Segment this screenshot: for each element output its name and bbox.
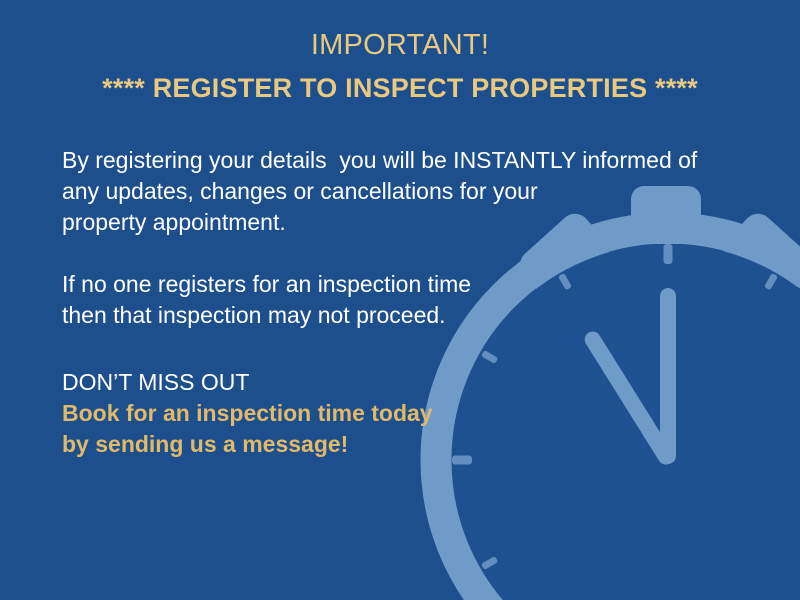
paragraph1-line3: property appointment. [62, 207, 722, 238]
heading-register: **** REGISTER TO INSPECT PROPERTIES **** [0, 68, 800, 108]
paragraph1-line2: any updates, changes or cancellations fo… [62, 176, 722, 207]
body-text-block: By registering your details you will be … [62, 145, 722, 331]
cta-dont-miss-out: DON’T MISS OUT [62, 367, 582, 398]
paragraph2-line2: then that inspection may not proceed. [62, 300, 722, 331]
call-to-action-block: DON’T MISS OUT Book for an inspection ti… [62, 367, 582, 460]
paragraph1-line1: By registering your details you will be … [62, 145, 722, 176]
heading-important: IMPORTANT! [0, 26, 800, 64]
heading-block: IMPORTANT! **** REGISTER TO INSPECT PROP… [0, 26, 800, 108]
paragraph-spacer [62, 238, 722, 269]
cta-send-message: by sending us a message! [62, 429, 582, 460]
slide-canvas: IMPORTANT! **** REGISTER TO INSPECT PROP… [0, 0, 800, 600]
paragraph2-line1: If no one registers for an inspection ti… [62, 269, 722, 300]
cta-book-inspection: Book for an inspection time today [62, 398, 582, 429]
